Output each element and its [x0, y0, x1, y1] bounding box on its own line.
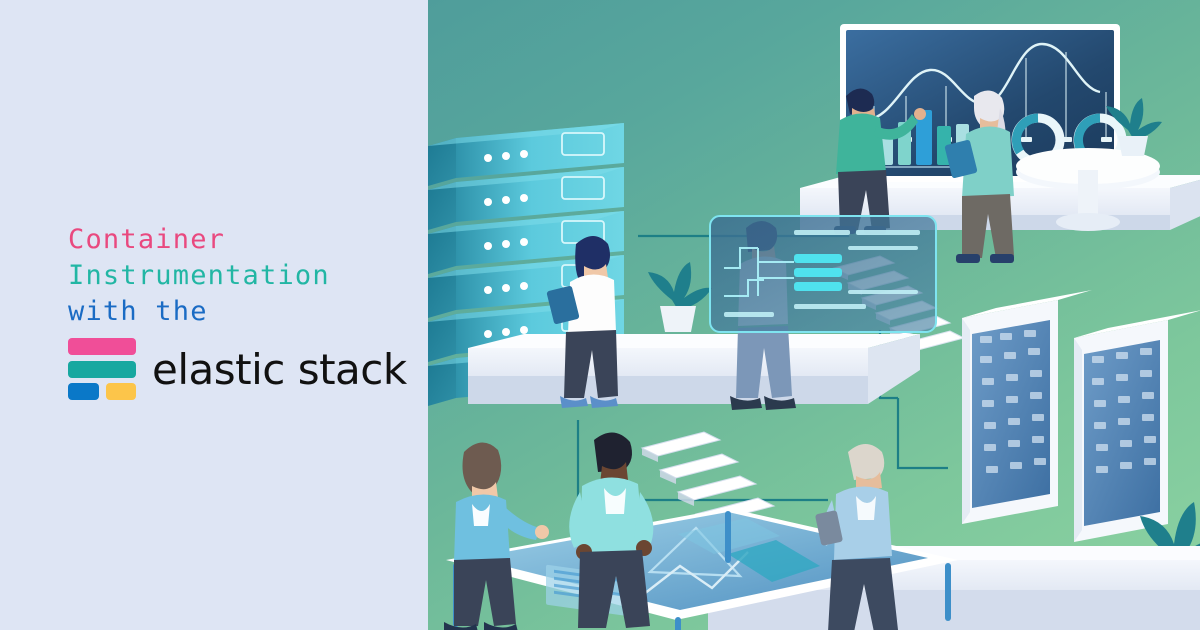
logo-bar-blue: [68, 383, 99, 400]
title-line-container: Container: [68, 222, 408, 258]
poster-canvas: Container Instrumentation with the elast…: [0, 0, 1200, 630]
left-title-panel: Container Instrumentation with the elast…: [0, 0, 428, 630]
logo-bar-pink: [68, 338, 136, 355]
person-at-table-center: [569, 432, 653, 628]
page-title: Container Instrumentation with the: [68, 222, 408, 330]
elastic-logo-mark-icon: [68, 338, 136, 400]
title-line-with-the: with the: [68, 294, 408, 330]
mid-platform: [468, 334, 920, 404]
datacenter-illustration: [428, 0, 1200, 630]
person-at-table-left: [444, 442, 549, 630]
logo-bar-yellow: [106, 383, 136, 400]
server-rack-cabinet: [1074, 310, 1200, 542]
title-line-instrumentation: Instrumentation: [68, 258, 408, 294]
potted-plant-mid: [648, 262, 712, 332]
server-rack-cabinet: [962, 290, 1092, 524]
elastic-stack-wordmark: elastic stack: [152, 349, 407, 391]
elastic-stack-logo: elastic stack: [68, 338, 407, 400]
illustration-artwork: [428, 0, 1200, 630]
logo-bar-teal: [68, 361, 136, 378]
logo-bar-bottom-row: [68, 383, 136, 400]
